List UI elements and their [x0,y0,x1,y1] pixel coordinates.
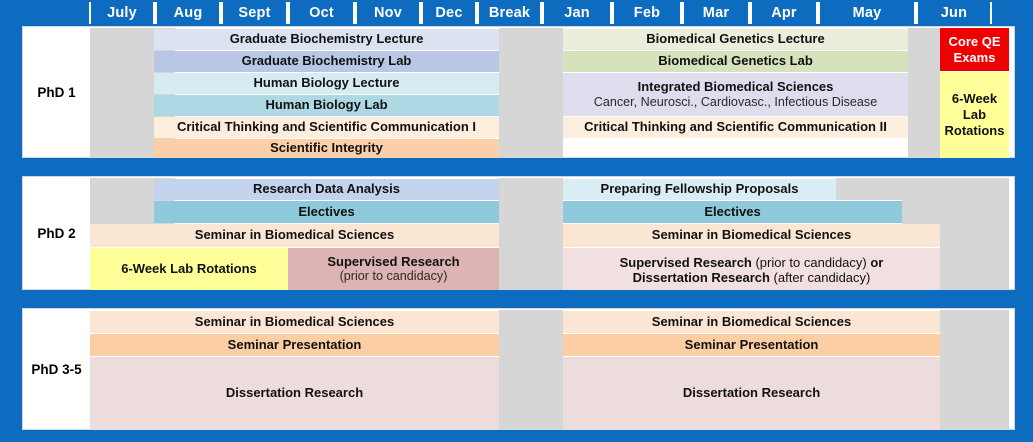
month-header-jun: Jun [916,2,992,24]
year-panel-phd2: Research Data AnalysisElectivesSeminar i… [22,176,1015,290]
month-header-may: May [818,2,916,24]
month-header-break: Break [477,2,542,24]
course-bar-graduate-biochemistry-lecture[interactable]: Graduate Biochemistry Lecture [154,29,499,50]
course-bar-critical-thinking-sci-comm-2[interactable]: Critical Thinking and Scientific Communi… [563,117,908,138]
course-bar-critical-thinking-sci-comm-1[interactable]: Critical Thinking and Scientific Communi… [154,117,499,138]
year-label-phd1: PhD 1 [23,27,90,157]
course-bar-title-line: Exams [948,50,1000,66]
course-bar-electives-fall[interactable]: Electives [154,201,499,223]
month-header-aug: Aug [155,2,221,24]
course-bar-title: Graduate Biochemistry Lab [242,54,412,69]
course-bar-integrated-biomedical-sciences[interactable]: Integrated Biomedical SciencesCancer, Ne… [563,73,908,116]
month-header-apr: Apr [750,2,818,24]
course-bar-title: 6-WeekLabRotations [945,91,1005,139]
course-bar-title: Seminar in Biomedical Sciences [195,315,394,330]
course-bar-title: Dissertation Research [226,386,363,401]
course-bar-biomedical-genetics-lecture[interactable]: Biomedical Genetics Lecture [563,29,908,50]
empty-period-block [902,200,940,225]
month-header-sept: Sept [221,2,288,24]
month-header-dec: Dec [421,2,477,24]
curriculum-timeline: JulyAugSeptOctNovDecBreakJanFebMarAprMay… [0,0,1033,442]
course-bar-supervised-research-fall[interactable]: Supervised Research(prior to candidacy) [288,248,499,290]
course-bar-title-line: Lab [945,107,1005,123]
course-bar-title: Seminar Presentation [228,338,362,353]
month-header-jan: Jan [542,2,612,24]
empty-period-block [908,28,940,158]
course-bar-research-data-analysis[interactable]: Research Data Analysis [154,179,499,200]
month-header-feb: Feb [612,2,682,24]
course-bar-seminar-presentation-spring[interactable]: Seminar Presentation [563,334,940,356]
year-panel-phd35: Seminar in Biomedical SciencesSeminar Pr… [22,308,1015,430]
course-bar-human-biology-lab[interactable]: Human Biology Lab [154,95,499,116]
course-bar-title: Scientific Integrity [270,141,383,156]
course-bar-title: Critical Thinking and Scientific Communi… [584,120,887,135]
course-bar-scientific-integrity[interactable]: Scientific Integrity [154,139,499,158]
month-header-nov: Nov [355,2,421,24]
empty-period-block [940,310,1009,430]
course-bar-title: Seminar in Biomedical Sciences [652,315,851,330]
month-header-mar: Mar [682,2,750,24]
empty-period-block [940,178,1009,290]
course-bar-subtitle: Cancer, Neurosci., Cardiovasc., Infectio… [594,95,877,109]
course-bar-seminar-biomedical-sciences-fall[interactable]: Seminar in Biomedical Sciences [90,224,499,247]
course-bar-title: Seminar in Biomedical Sciences [195,228,394,243]
course-bar-six-week-lab-rotations-phd1[interactable]: 6-WeekLabRotations [940,72,1009,158]
course-bar-dissertation-research-spring[interactable]: Dissertation Research [563,357,940,430]
course-bar-text-segment: Supervised Research [620,255,752,270]
course-bar-title: Supervised Research [327,255,459,270]
course-bar-title: Research Data Analysis [253,182,400,197]
course-bar-six-week-lab-rotations-phd2[interactable]: 6-Week Lab Rotations [90,248,288,290]
course-bar-core-qe-exams[interactable]: Core QEExams [940,28,1009,71]
course-bar-text-segment: Dissertation Research [633,270,770,285]
course-bar-supervised-or-dissertation-research[interactable]: Supervised Research (prior to candidacy)… [563,248,940,290]
course-bar-title: Electives [298,205,354,220]
course-bar-title: Critical Thinking and Scientific Communi… [177,120,476,135]
empty-period-block [499,178,563,290]
course-bar-text-segment: (prior to candidacy) [752,255,867,270]
course-bar-preparing-fellowship-proposals[interactable]: Preparing Fellowship Proposals [563,179,836,200]
course-bar-title: Integrated Biomedical Sciences [638,80,834,95]
course-bar-title-line: 6-Week [945,91,1005,107]
empty-period-block [836,178,940,200]
course-bar-line: Supervised Research (prior to candidacy)… [563,256,940,271]
course-bar-title: Core QEExams [948,34,1000,66]
course-bar-seminar-biomedical-sciences-phd35-fall[interactable]: Seminar in Biomedical Sciences [90,311,499,333]
course-bar-title: Preparing Fellowship Proposals [601,182,799,197]
course-bar-text-segment: or [867,255,884,270]
year-label-phd2: PhD 2 [23,177,90,289]
course-bar-title: Human Biology Lab [265,98,387,113]
course-bar-title: Graduate Biochemistry Lecture [230,32,424,47]
course-bar-seminar-biomedical-sciences-phd35-spring[interactable]: Seminar in Biomedical Sciences [563,311,940,333]
course-bar-title: Human Biology Lecture [254,76,400,91]
month-header-oct: Oct [288,2,355,24]
year-label-phd35: PhD 3-5 [23,309,90,429]
course-bar-title: Seminar Presentation [685,338,819,353]
month-header-july: July [89,2,155,24]
course-bar-line: Dissertation Research (after candidacy) [563,271,940,286]
empty-period-block [499,28,563,158]
course-bar-subtitle: (prior to candidacy) [340,269,448,283]
course-bar-human-biology-lecture[interactable]: Human Biology Lecture [154,73,499,94]
course-bar-title: Electives [704,205,760,220]
empty-period-block [499,310,563,430]
course-bar-title: Seminar in Biomedical Sciences [652,228,851,243]
year-panel-phd1: Graduate Biochemistry LectureGraduate Bi… [22,26,1015,158]
course-bar-seminar-presentation-fall[interactable]: Seminar Presentation [90,334,499,356]
course-bar-text-segment: (after candidacy) [770,270,870,285]
course-bar-title-line: Rotations [945,123,1005,139]
course-bar-title: 6-Week Lab Rotations [121,262,257,277]
course-bar-dissertation-research-fall[interactable]: Dissertation Research [90,357,499,430]
course-bar-seminar-biomedical-sciences-spring[interactable]: Seminar in Biomedical Sciences [563,224,940,247]
course-bar-title: Biomedical Genetics Lecture [646,32,824,47]
course-bar-graduate-biochemistry-lab[interactable]: Graduate Biochemistry Lab [154,51,499,72]
course-bar-title: Biomedical Genetics Lab [658,54,813,69]
course-bar-title: Dissertation Research [683,386,820,401]
course-bar-electives-spring[interactable]: Electives [563,201,902,223]
course-bar-title-line: Core QE [948,34,1000,50]
course-bar-biomedical-genetics-lab[interactable]: Biomedical Genetics Lab [563,51,908,72]
